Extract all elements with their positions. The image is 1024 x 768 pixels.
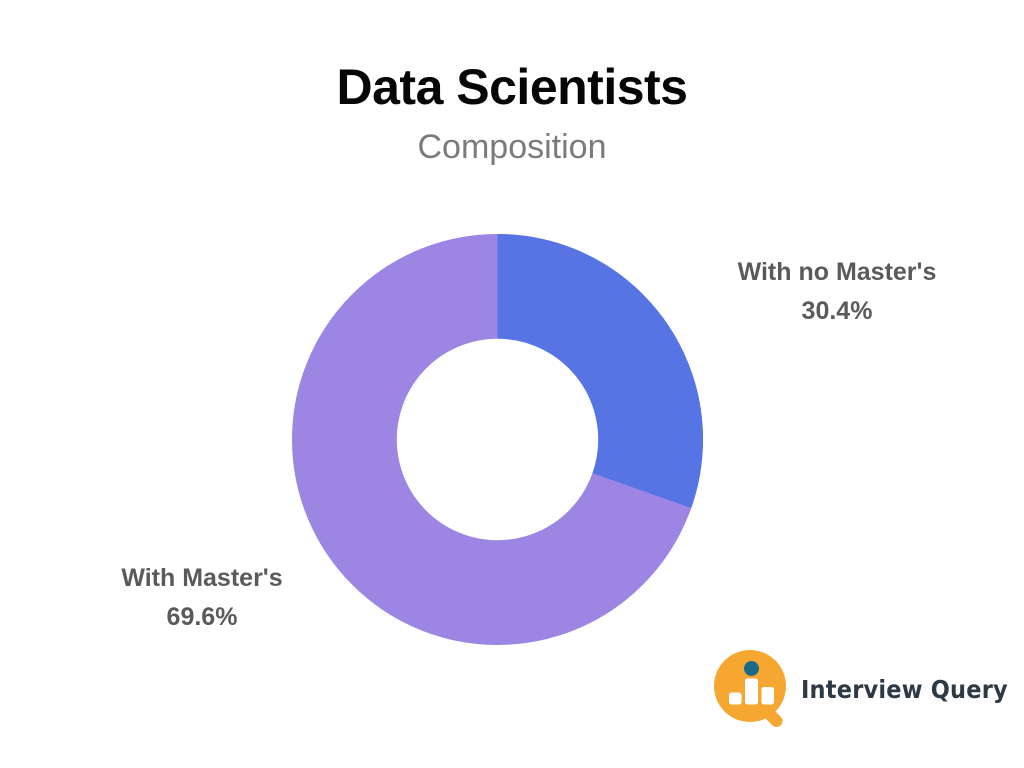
- page-title: Data Scientists: [0, 62, 1024, 112]
- brand-watermark: Interview Query: [714, 650, 1008, 728]
- slice-label-no-masters-percent: 30.4%: [690, 292, 984, 331]
- page-subtitle: Composition: [0, 112, 1024, 164]
- chart-header: Data Scientists Composition: [0, 0, 1024, 164]
- donut-hole: [397, 339, 598, 540]
- donut-chart-svg: [292, 234, 703, 645]
- slice-label-masters-percent: 69.6%: [55, 598, 349, 637]
- donut-chart: [292, 234, 703, 645]
- slice-label-no-masters-name: With no Master's: [738, 258, 937, 286]
- magnifying-glass-bar-chart-icon: [714, 650, 792, 728]
- slice-label-masters: With Master's 69.6%: [55, 559, 349, 637]
- brand-name: Interview Query: [801, 675, 1008, 704]
- slice-label-masters-name: With Master's: [121, 564, 282, 592]
- slice-label-no-masters: With no Master's 30.4%: [690, 253, 984, 331]
